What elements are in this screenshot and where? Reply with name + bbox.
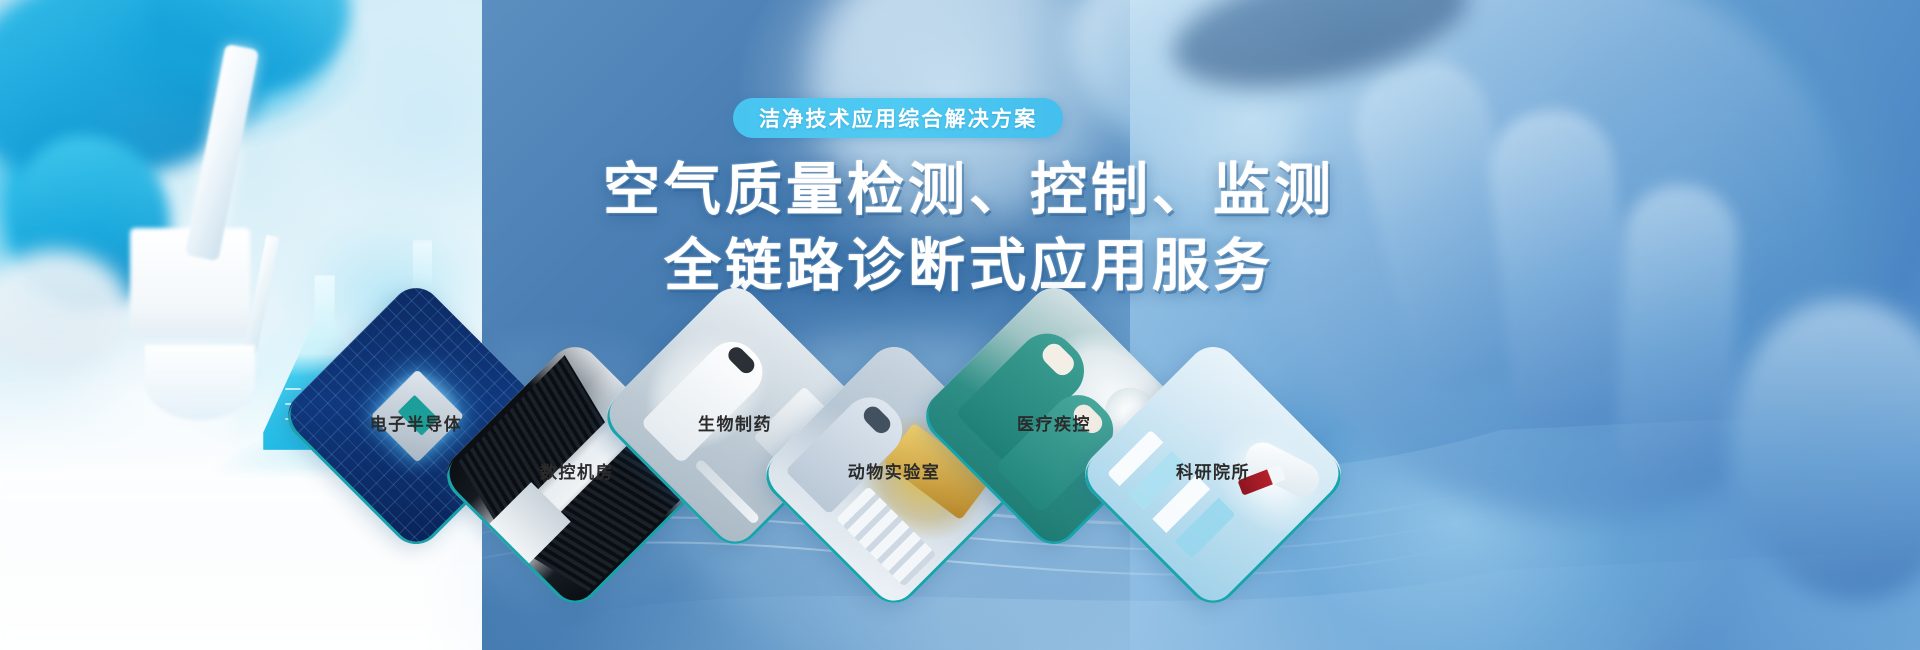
industry-card-label-research: 科研院所 bbox=[1158, 458, 1268, 483]
industry-card-label-biopharma: 生物制药 bbox=[680, 410, 790, 435]
industry-card-label-animal-lab: 动物实验室 bbox=[829, 458, 959, 483]
industry-card-label-medical: 医疗疾控 bbox=[999, 410, 1109, 435]
industry-card-label-datacenter: 数控机房 bbox=[522, 458, 632, 483]
cleanroom-worker bbox=[640, 331, 773, 464]
hero-banner: 洁净技术应用综合解决方案 空气质量检测、控制、监测 全链路诊断式应用服务 电子半… bbox=[0, 0, 1920, 650]
industry-card-label-semiconductor: 电子半导体 bbox=[356, 410, 476, 435]
process-piping bbox=[694, 458, 760, 524]
glassware-row bbox=[1107, 430, 1236, 559]
bottle-row bbox=[836, 486, 936, 586]
industry-card-row: 电子半导体 数控机房 生物制药 bbox=[0, 0, 1920, 650]
